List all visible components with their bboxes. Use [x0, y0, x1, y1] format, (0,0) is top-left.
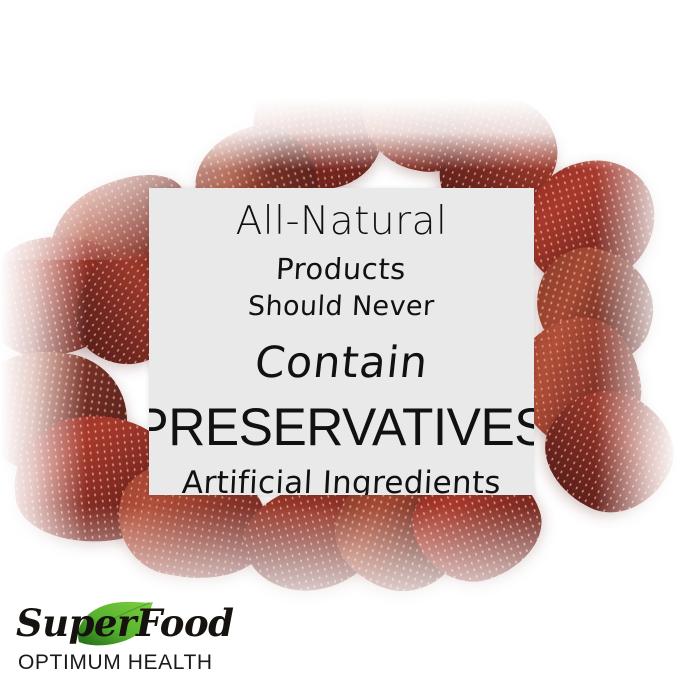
- caption-line-all-natural: All-Natural: [236, 202, 448, 241]
- logo-tagline: OPTIMUM HEALTH: [18, 651, 213, 675]
- caption-line-preservatives: PRESERVATIVES: [149, 401, 534, 454]
- caption-card: All-Natural Products Should Never Contai…: [149, 188, 534, 495]
- caption-line-contain: Contain: [253, 342, 431, 385]
- product-image-canvas: All-Natural Products Should Never Contai…: [0, 0, 679, 679]
- caption-line-products: Products: [276, 255, 408, 284]
- logo-wordmark: SuperFood: [16, 598, 206, 648]
- caption-line-artificial-ingredients: Artificial Ingredients: [181, 468, 502, 495]
- brand-logo: SuperFood OPTIMUM HEALTH: [10, 596, 210, 676]
- caption-line-should-never: Should Never: [248, 293, 436, 320]
